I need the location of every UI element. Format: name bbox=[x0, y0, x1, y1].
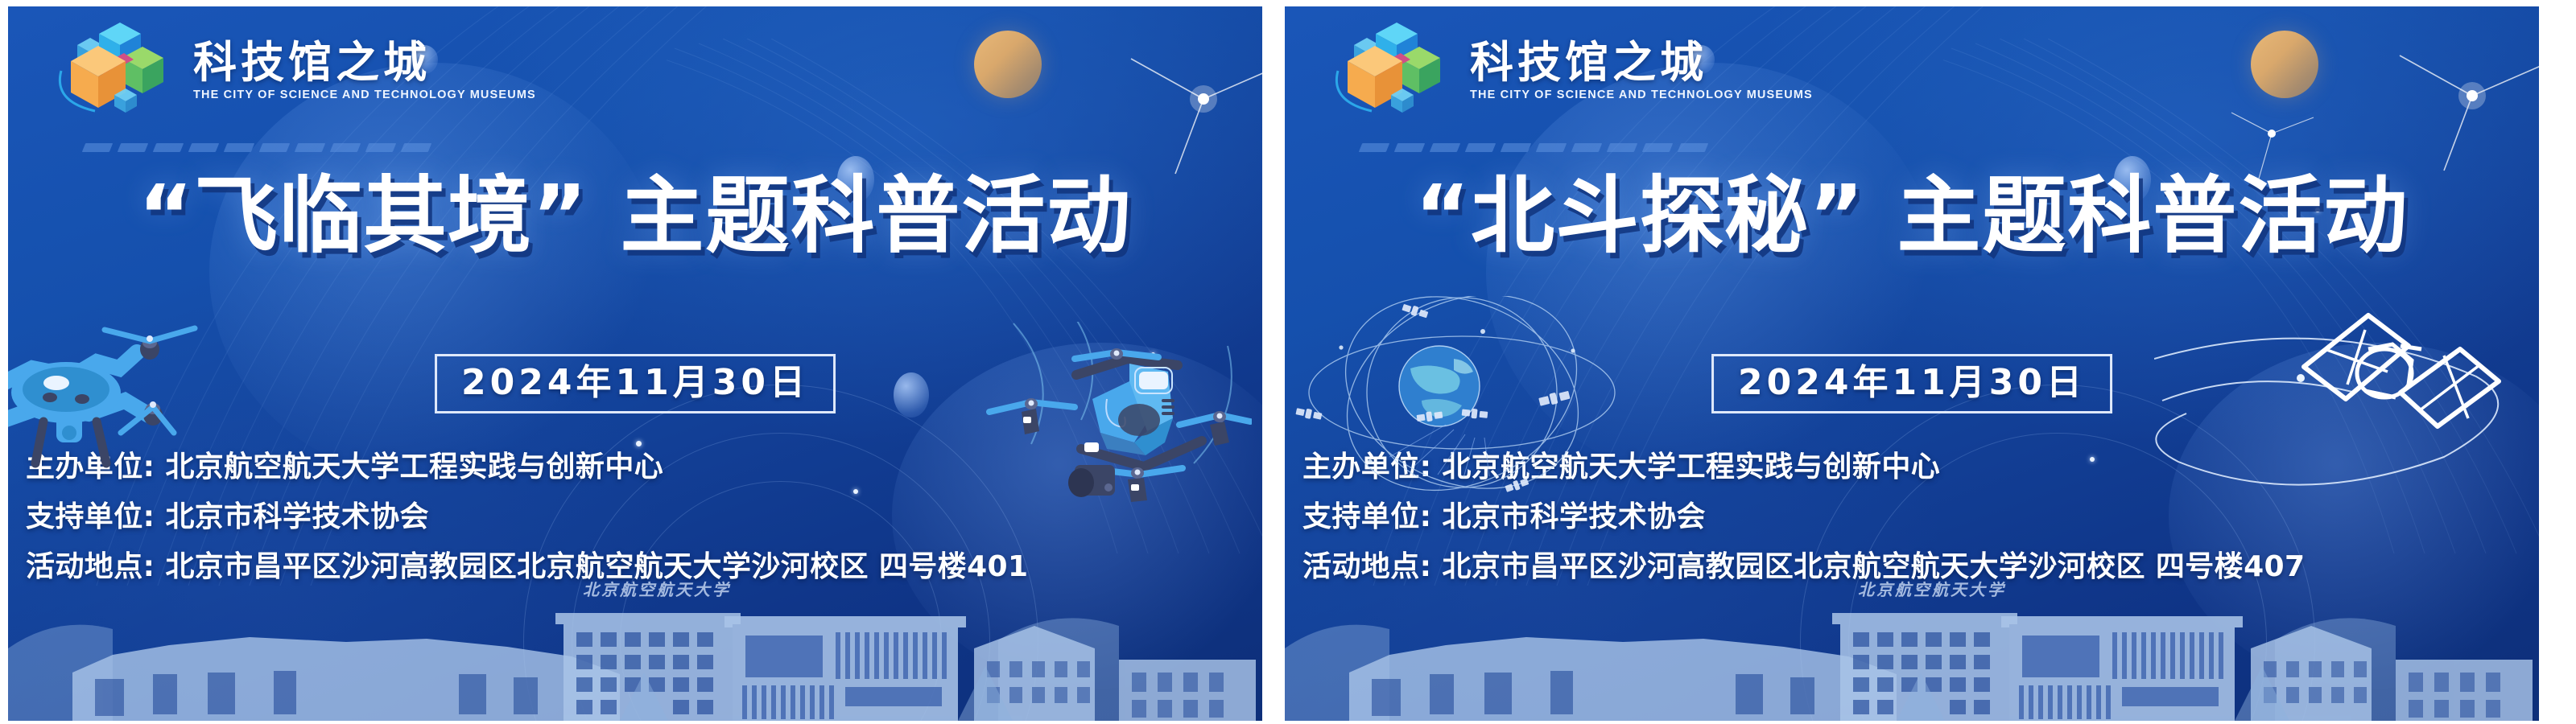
skyline-university-label: 北京航空航天大学 bbox=[1858, 577, 2006, 600]
brand-logo[interactable]: 科技馆之城 THE CITY OF SCIENCE AND TECHNOLOGY… bbox=[53, 21, 536, 116]
info-line-organizer: 主办单位: 北京航空航天大学工程实践与创新中心 bbox=[26, 452, 1028, 483]
event-info-block: 主办单位: 北京航空航天大学工程实践与创新中心 支持单位: 北京市科学技术协会 … bbox=[26, 452, 1028, 583]
dual-poster-stage: 科技馆之城 THE CITY OF SCIENCE AND TECHNOLOGY… bbox=[0, 0, 2576, 724]
logo-wordmark: 科技馆之城 THE CITY OF SCIENCE AND TECHNOLOGY… bbox=[193, 35, 536, 101]
logo-chinese-name: 科技馆之城 bbox=[1470, 40, 1813, 84]
headline-rest-part: 主题科普活动 bbox=[1897, 167, 2409, 265]
event-info-block: 主办单位: 北京航空航天大学工程实践与创新中心 支持单位: 北京市科学技术协会 … bbox=[1302, 452, 2305, 583]
planet-sphere bbox=[974, 31, 1042, 98]
dash-accent-row bbox=[1360, 143, 1707, 152]
skyline-university-label: 北京航空航天大学 bbox=[583, 577, 731, 600]
headline-rest-part: 主题科普活动 bbox=[620, 167, 1132, 265]
event-date-badge: 2024年11月30日 bbox=[435, 354, 836, 413]
logo-chinese-name: 科技馆之城 bbox=[193, 40, 536, 84]
isometric-cubes-logo-icon bbox=[53, 21, 175, 116]
info-line-supporter: 支持单位: 北京市科学技术协会 bbox=[26, 502, 1028, 533]
star-dot bbox=[636, 441, 642, 446]
logo-english-name: THE CITY OF SCIENCE AND TECHNOLOGY MUSEU… bbox=[1470, 88, 1813, 101]
star-flare-icon bbox=[2396, 19, 2539, 172]
headline-quoted-part: “飞临其境” bbox=[138, 167, 588, 265]
glow-blob bbox=[209, 63, 660, 481]
logo-english-name: THE CITY OF SCIENCE AND TECHNOLOGY MUSEU… bbox=[193, 88, 536, 101]
info-line-venue: 活动地点: 北京市昌平区沙河高教园区北京航空航天大学沙河校区 四号楼401 bbox=[26, 552, 1028, 583]
poster-headline: “飞临其境”主题科普活动 bbox=[8, 174, 1262, 257]
drone-large-left-icon bbox=[8, 272, 250, 473]
info-line-organizer: 主办单位: 北京航空航天大学工程实践与创新中心 bbox=[1302, 452, 2305, 483]
info-line-venue: 活动地点: 北京市昌平区沙河高教园区北京航空航天大学沙河校区 四号楼407 bbox=[1302, 552, 2305, 583]
poster-right: 科技馆之城 THE CITY OF SCIENCE AND TECHNOLOGY… bbox=[1285, 6, 2539, 721]
event-date-badge: 2024年11月30日 bbox=[1711, 354, 2112, 413]
glow-blob bbox=[1486, 63, 1937, 481]
headline-quoted-part: “北斗探秘” bbox=[1415, 167, 1865, 265]
isometric-cubes-logo-icon bbox=[1330, 21, 1452, 116]
star-dot bbox=[1151, 352, 1155, 356]
star-flare-icon bbox=[1127, 23, 1262, 175]
poster-headline: “北斗探秘”主题科普活动 bbox=[1285, 174, 2539, 257]
dash-accent-row bbox=[84, 143, 430, 152]
info-line-supporter: 支持单位: 北京市科学技术协会 bbox=[1302, 502, 2305, 533]
planet-sphere bbox=[2251, 31, 2318, 98]
small-sphere bbox=[894, 372, 929, 418]
poster-left: 科技馆之城 THE CITY OF SCIENCE AND TECHNOLOGY… bbox=[8, 6, 1262, 721]
logo-wordmark: 科技馆之城 THE CITY OF SCIENCE AND TECHNOLOGY… bbox=[1470, 35, 1813, 101]
brand-logo[interactable]: 科技馆之城 THE CITY OF SCIENCE AND TECHNOLOGY… bbox=[1330, 21, 1813, 116]
